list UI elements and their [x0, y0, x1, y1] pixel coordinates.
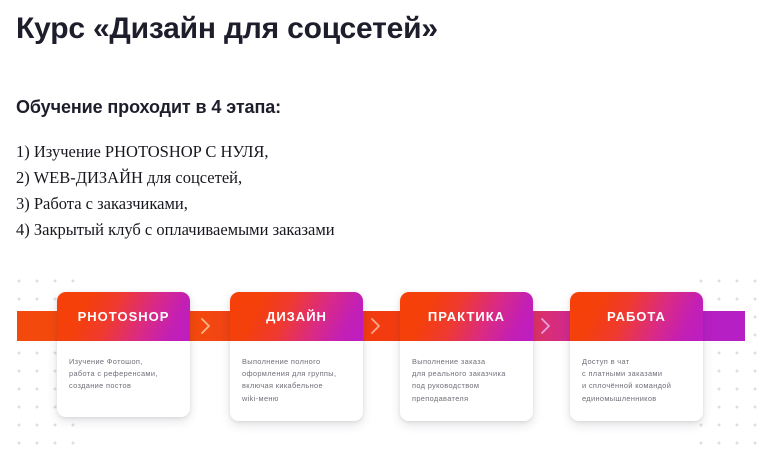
stage-card-title: ПРАКТИКА: [428, 309, 505, 324]
stage-card-header: ПРАКТИКА: [400, 292, 533, 341]
list-item: 1) Изучение PHOTOSHOP С НУЛЯ,: [16, 139, 746, 165]
page-title: Курс «Дизайн для соцсетей»: [16, 10, 746, 48]
stage-card-photoshop[interactable]: PHOTOSHOP Изучение Фотошоп, работа с реф…: [57, 292, 190, 417]
list-item: 2) WEB-ДИЗАЙН для соцсетей,: [16, 165, 746, 191]
stage-card-description: Выполнение полного оформления для группы…: [242, 356, 351, 405]
stage-card-description: Доступ в чат с платными заказами и сплоч…: [582, 356, 691, 405]
stage-card-header: ДИЗАЙН: [230, 292, 363, 341]
stage-card-header: PHOTOSHOP: [57, 292, 190, 341]
stage-card-title: РАБОТА: [607, 309, 666, 324]
list-item: 3) Работа с заказчиками,: [16, 191, 746, 217]
stage-card-header: РАБОТА: [570, 292, 703, 341]
stage-card-design[interactable]: ДИЗАЙН Выполнение полного оформления для…: [230, 292, 363, 421]
list-item: 4) Закрытый клуб с оплачиваемыми заказам…: [16, 217, 746, 243]
stage-card-description: Выполнение заказа для реального заказчик…: [412, 356, 521, 405]
stage-card-title: PHOTOSHOP: [78, 309, 170, 324]
stage-card-title: ДИЗАЙН: [266, 309, 327, 324]
chevron-right-icon: [366, 316, 386, 336]
chevron-right-icon: [196, 316, 216, 336]
stages-list: 1) Изучение PHOTOSHOP С НУЛЯ, 2) WEB-ДИЗ…: [16, 139, 746, 243]
stages-infographic: PHOTOSHOP Изучение Фотошоп, работа с реф…: [0, 268, 762, 470]
stage-card-body: Выполнение полного оформления для группы…: [230, 341, 363, 421]
stage-card-body: Изучение Фотошоп, работа с референсами, …: [57, 341, 190, 417]
stage-card-body: Доступ в чат с платными заказами и сплоч…: [570, 341, 703, 421]
stage-card-practice[interactable]: ПРАКТИКА Выполнение заказа для реального…: [400, 292, 533, 421]
stage-card-body: Выполнение заказа для реального заказчик…: [400, 341, 533, 421]
stage-card-work[interactable]: РАБОТА Доступ в чат с платными заказами …: [570, 292, 703, 421]
intro-text-block: Курс «Дизайн для соцсетей» Обучение прох…: [16, 10, 746, 243]
stage-card-description: Изучение Фотошоп, работа с референсами, …: [69, 356, 178, 393]
chevron-right-icon: [536, 316, 556, 336]
section-subtitle: Обучение проходит в 4 этапа:: [16, 95, 746, 119]
page-root: Курс «Дизайн для соцсетей» Обучение прох…: [0, 0, 762, 470]
